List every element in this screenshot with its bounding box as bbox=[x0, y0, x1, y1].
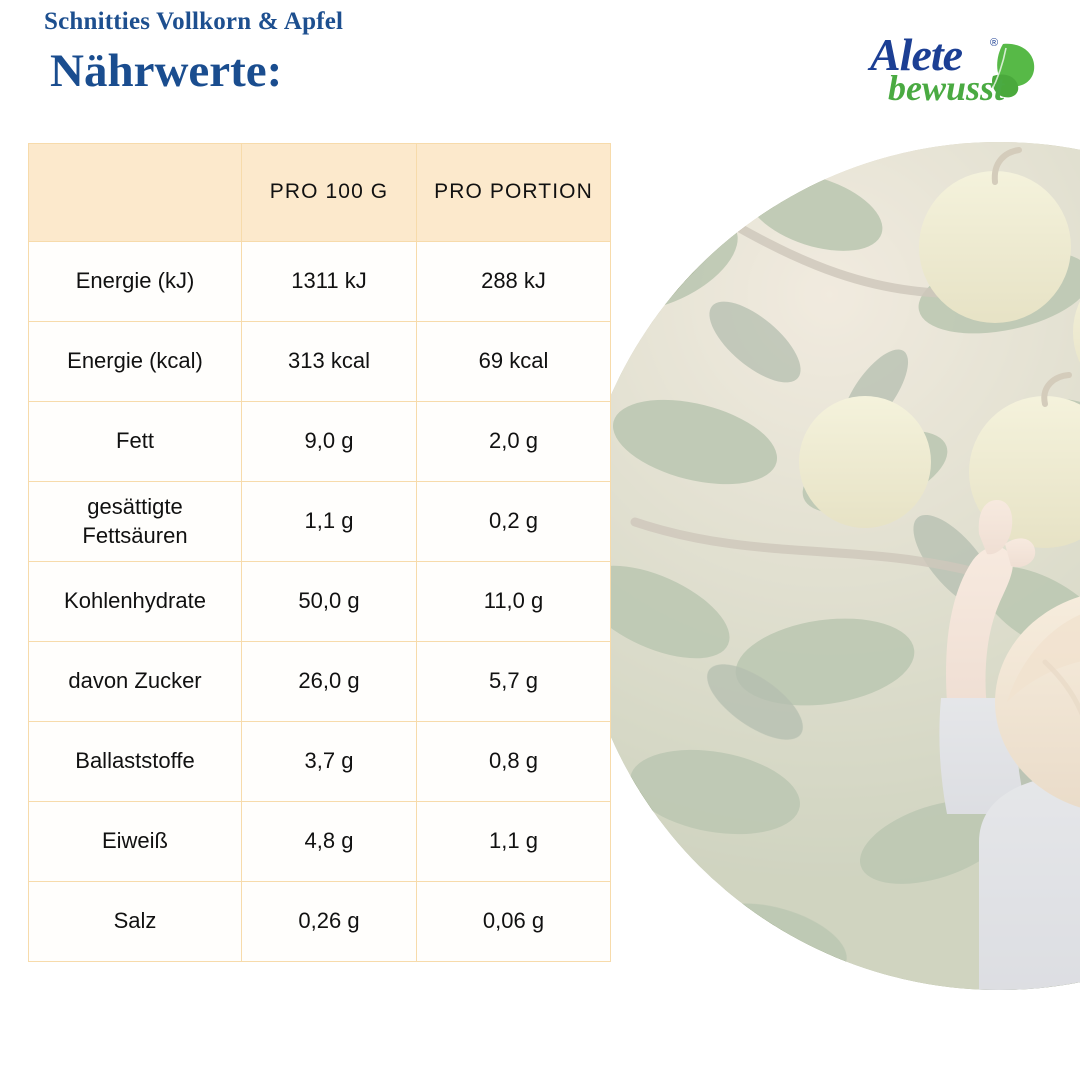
value-per-portion: 1,1 g bbox=[417, 802, 611, 882]
row-label: davon Zucker bbox=[29, 642, 242, 722]
value-per-portion: 5,7 g bbox=[417, 642, 611, 722]
value-per-portion: 0,8 g bbox=[417, 722, 611, 802]
value-per-100g: 0,26 g bbox=[242, 882, 417, 962]
nutrition-table: PRO 100 G PRO PORTION Energie (kJ)1311 k… bbox=[28, 143, 611, 962]
table-row: Kohlenhydrate50,0 g11,0 g bbox=[29, 562, 611, 642]
table-row: Ballaststoffe3,7 g0,8 g bbox=[29, 722, 611, 802]
value-per-100g: 3,7 g bbox=[242, 722, 417, 802]
value-per-portion: 69 kcal bbox=[417, 322, 611, 402]
table-row: davon Zucker26,0 g5,7 g bbox=[29, 642, 611, 722]
value-per-100g: 50,0 g bbox=[242, 562, 417, 642]
table-row: gesättigteFettsäuren1,1 g0,2 g bbox=[29, 482, 611, 562]
value-per-portion: 0,2 g bbox=[417, 482, 611, 562]
value-per-100g: 26,0 g bbox=[242, 642, 417, 722]
product-title: Schnitties Vollkorn & Apfel bbox=[44, 8, 343, 36]
hero-photo bbox=[575, 142, 1080, 990]
value-per-portion: 288 kJ bbox=[417, 242, 611, 322]
row-label: Eiweiß bbox=[29, 802, 242, 882]
value-per-portion: 2,0 g bbox=[417, 402, 611, 482]
row-label: gesättigteFettsäuren bbox=[29, 482, 242, 562]
value-per-portion: 11,0 g bbox=[417, 562, 611, 642]
table-row: Salz0,26 g0,06 g bbox=[29, 882, 611, 962]
svg-text:bewusst: bewusst bbox=[888, 68, 1005, 108]
table-header-row: PRO 100 G PRO PORTION bbox=[29, 144, 611, 242]
row-label: Salz bbox=[29, 882, 242, 962]
row-label: Energie (kJ) bbox=[29, 242, 242, 322]
value-per-100g: 9,0 g bbox=[242, 402, 417, 482]
brand-logo: Alete ® bewusst bbox=[864, 26, 1044, 108]
column-header-label bbox=[29, 144, 242, 242]
value-per-portion: 0,06 g bbox=[417, 882, 611, 962]
row-label: Ballaststoffe bbox=[29, 722, 242, 802]
row-label: Energie (kcal) bbox=[29, 322, 242, 402]
table-row: Energie (kcal)313 kcal69 kcal bbox=[29, 322, 611, 402]
table-row: Eiweiß4,8 g1,1 g bbox=[29, 802, 611, 882]
row-label: Kohlenhydrate bbox=[29, 562, 242, 642]
value-per-100g: 313 kcal bbox=[242, 322, 417, 402]
value-per-100g: 4,8 g bbox=[242, 802, 417, 882]
row-label: Fett bbox=[29, 402, 242, 482]
value-per-100g: 1311 kJ bbox=[242, 242, 417, 322]
brand-wordmark-bewusst: bewusst bbox=[888, 68, 1005, 108]
registered-trademark-icon: ® bbox=[990, 37, 998, 49]
page-title: Nährwerte: bbox=[50, 44, 282, 98]
value-per-100g: 1,1 g bbox=[242, 482, 417, 562]
table-row: Fett9,0 g2,0 g bbox=[29, 402, 611, 482]
column-header-per-100g: PRO 100 G bbox=[242, 144, 417, 242]
table-row: Energie (kJ)1311 kJ288 kJ bbox=[29, 242, 611, 322]
column-header-per-portion: PRO PORTION bbox=[417, 144, 611, 242]
